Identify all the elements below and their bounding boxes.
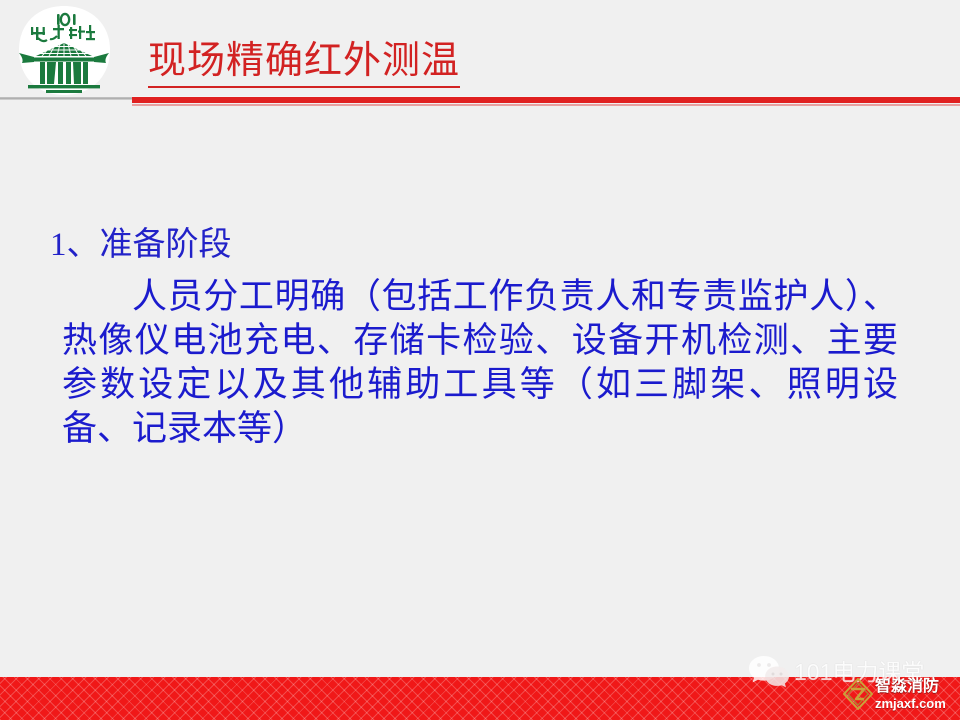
brand-logo-icon (13, 5, 115, 97)
header-rule-gray (0, 97, 132, 100)
body-paragraph: 人员分工明确（包括工作负责人和专责监护人）、热像仪电池充电、存储卡检验、设备开机… (62, 275, 898, 451)
section-heading: 1、准备阶段 (50, 225, 232, 265)
brand-logo (13, 5, 115, 97)
slide-header: 现场精确红外测温 (0, 0, 960, 104)
page-title: 现场精确红外测温 (148, 38, 460, 88)
header-rule-red (132, 96, 960, 103)
footer-band (0, 677, 960, 720)
slide-root: 现场精确红外测温 1、准备阶段 人员分工明确（包括工作负责人和专责监护人）、热像… (0, 0, 960, 720)
header-rule-red-accent (132, 104, 960, 106)
